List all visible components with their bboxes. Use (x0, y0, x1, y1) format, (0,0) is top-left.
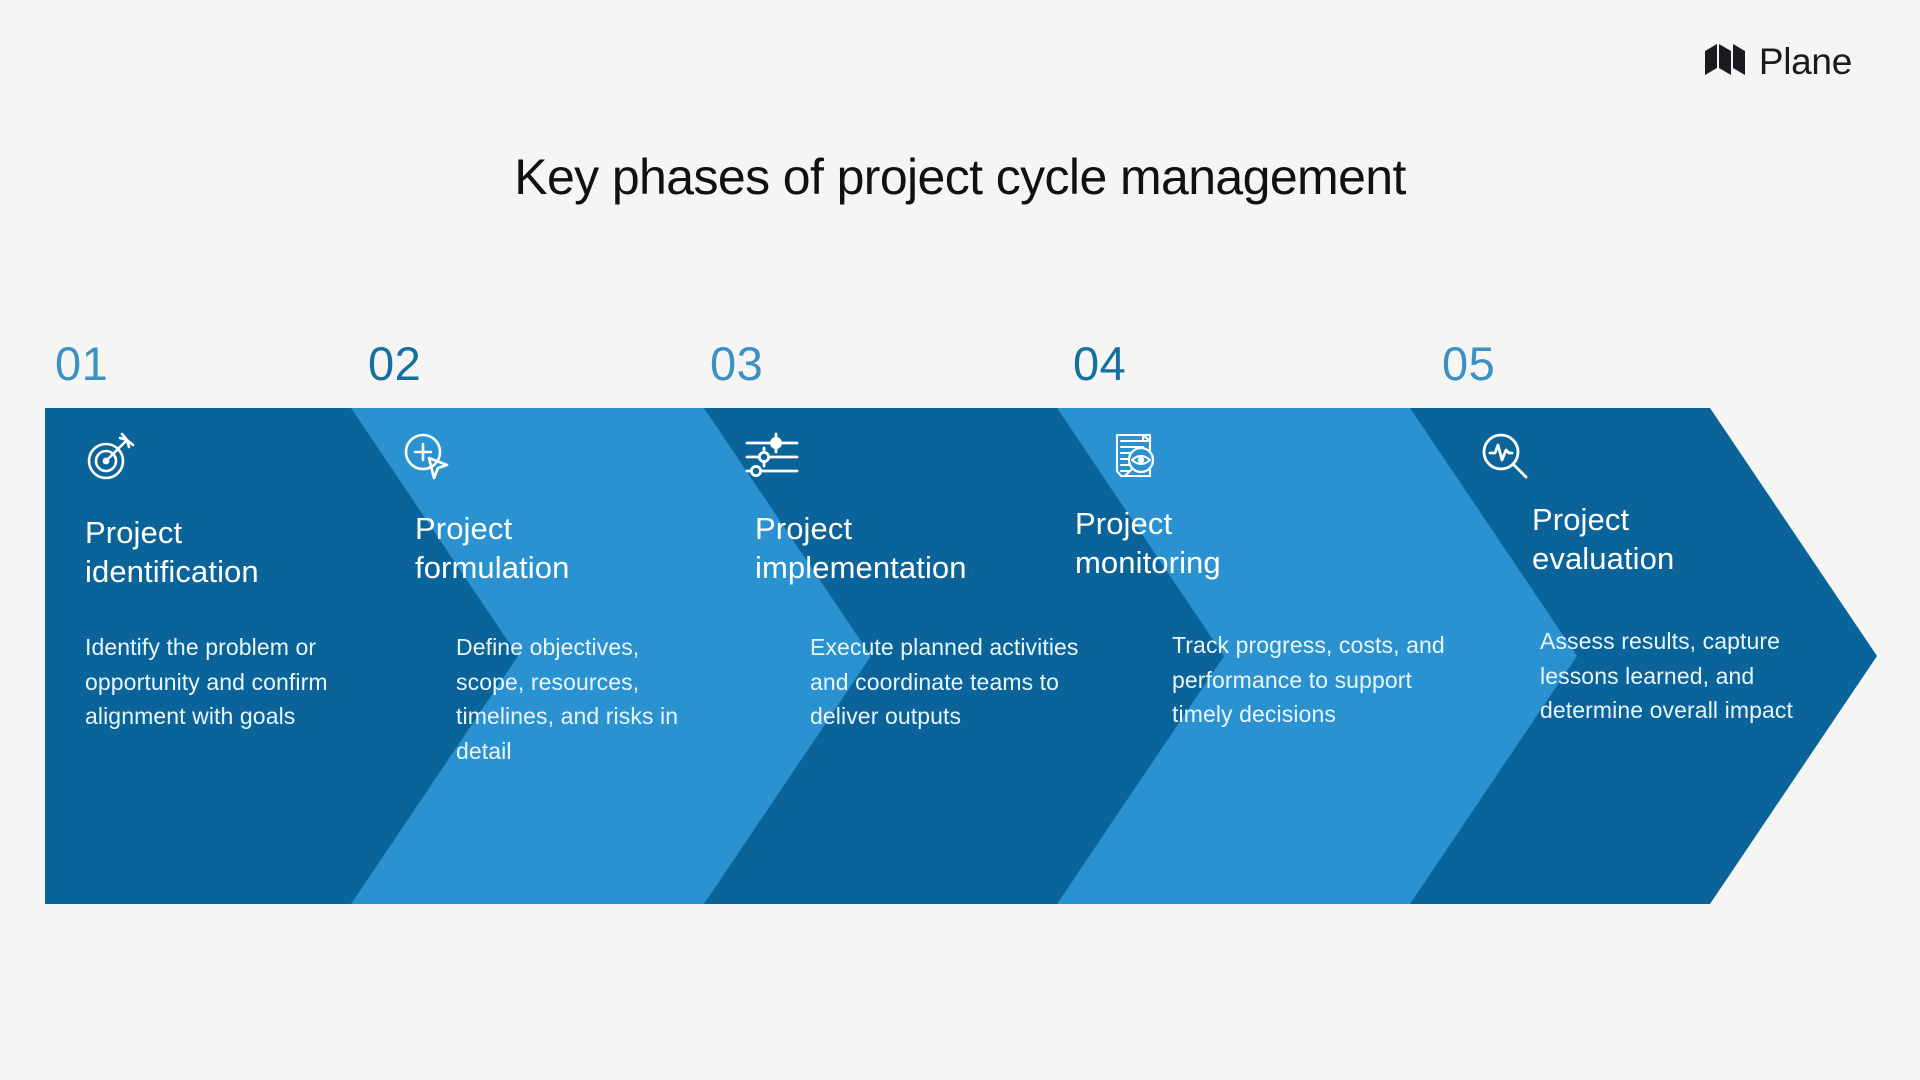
phase-title-line2: implementation (755, 550, 967, 585)
brand-logo: Plane (1703, 42, 1852, 81)
phase-title-line1: Project (415, 511, 512, 546)
phase-title-line2: evaluation (1532, 541, 1674, 576)
phase-title-line1: Project (755, 511, 852, 546)
sliders-icon (745, 430, 799, 484)
phase-title-line2: identification (85, 554, 259, 589)
add-cursor-icon (400, 430, 454, 484)
phase-description-05: Assess results, capture lessons learned,… (1540, 624, 1850, 728)
phase-title-03: Project implementation (755, 509, 1055, 587)
phase-number-05: 05 (1442, 340, 1495, 387)
document-eye-search-icon (1110, 430, 1164, 484)
phase-description-03: Execute planned activities and coordinat… (810, 630, 1082, 734)
page-title: Key phases of project cycle management (0, 148, 1920, 206)
phase-number-01: 01 (55, 340, 108, 387)
pulse-search-icon (1478, 430, 1532, 484)
phase-number-03: 03 (710, 340, 763, 387)
phase-description-04: Track progress, costs, and performance t… (1172, 628, 1460, 732)
phase-title-line1: Project (1532, 502, 1629, 537)
phase-title-line1: Project (1075, 506, 1172, 541)
plane-logo-icon (1703, 42, 1747, 81)
phase-title-line2: monitoring (1075, 545, 1221, 580)
phase-title-line2: formulation (415, 550, 569, 585)
phase-title-02: Project formulation (415, 509, 665, 587)
phase-chevron-band: Project identification Identify the prob… (0, 408, 1920, 904)
phase-number-row: 01 02 03 04 05 (0, 340, 1920, 404)
phase-title-04: Project monitoring (1075, 504, 1355, 582)
brand-name: Plane (1759, 43, 1852, 80)
phase-number-02: 02 (368, 340, 421, 387)
phase-description-01: Identify the problem or opportunity and … (85, 630, 333, 734)
phase-title-line1: Project (85, 515, 182, 550)
phase-title-01: Project identification (85, 513, 335, 591)
phase-description-02: Define objectives, scope, resources, tim… (456, 630, 708, 768)
target-arrow-icon (82, 430, 136, 484)
phase-number-04: 04 (1073, 340, 1126, 387)
phase-title-05: Project evaluation (1532, 500, 1792, 578)
